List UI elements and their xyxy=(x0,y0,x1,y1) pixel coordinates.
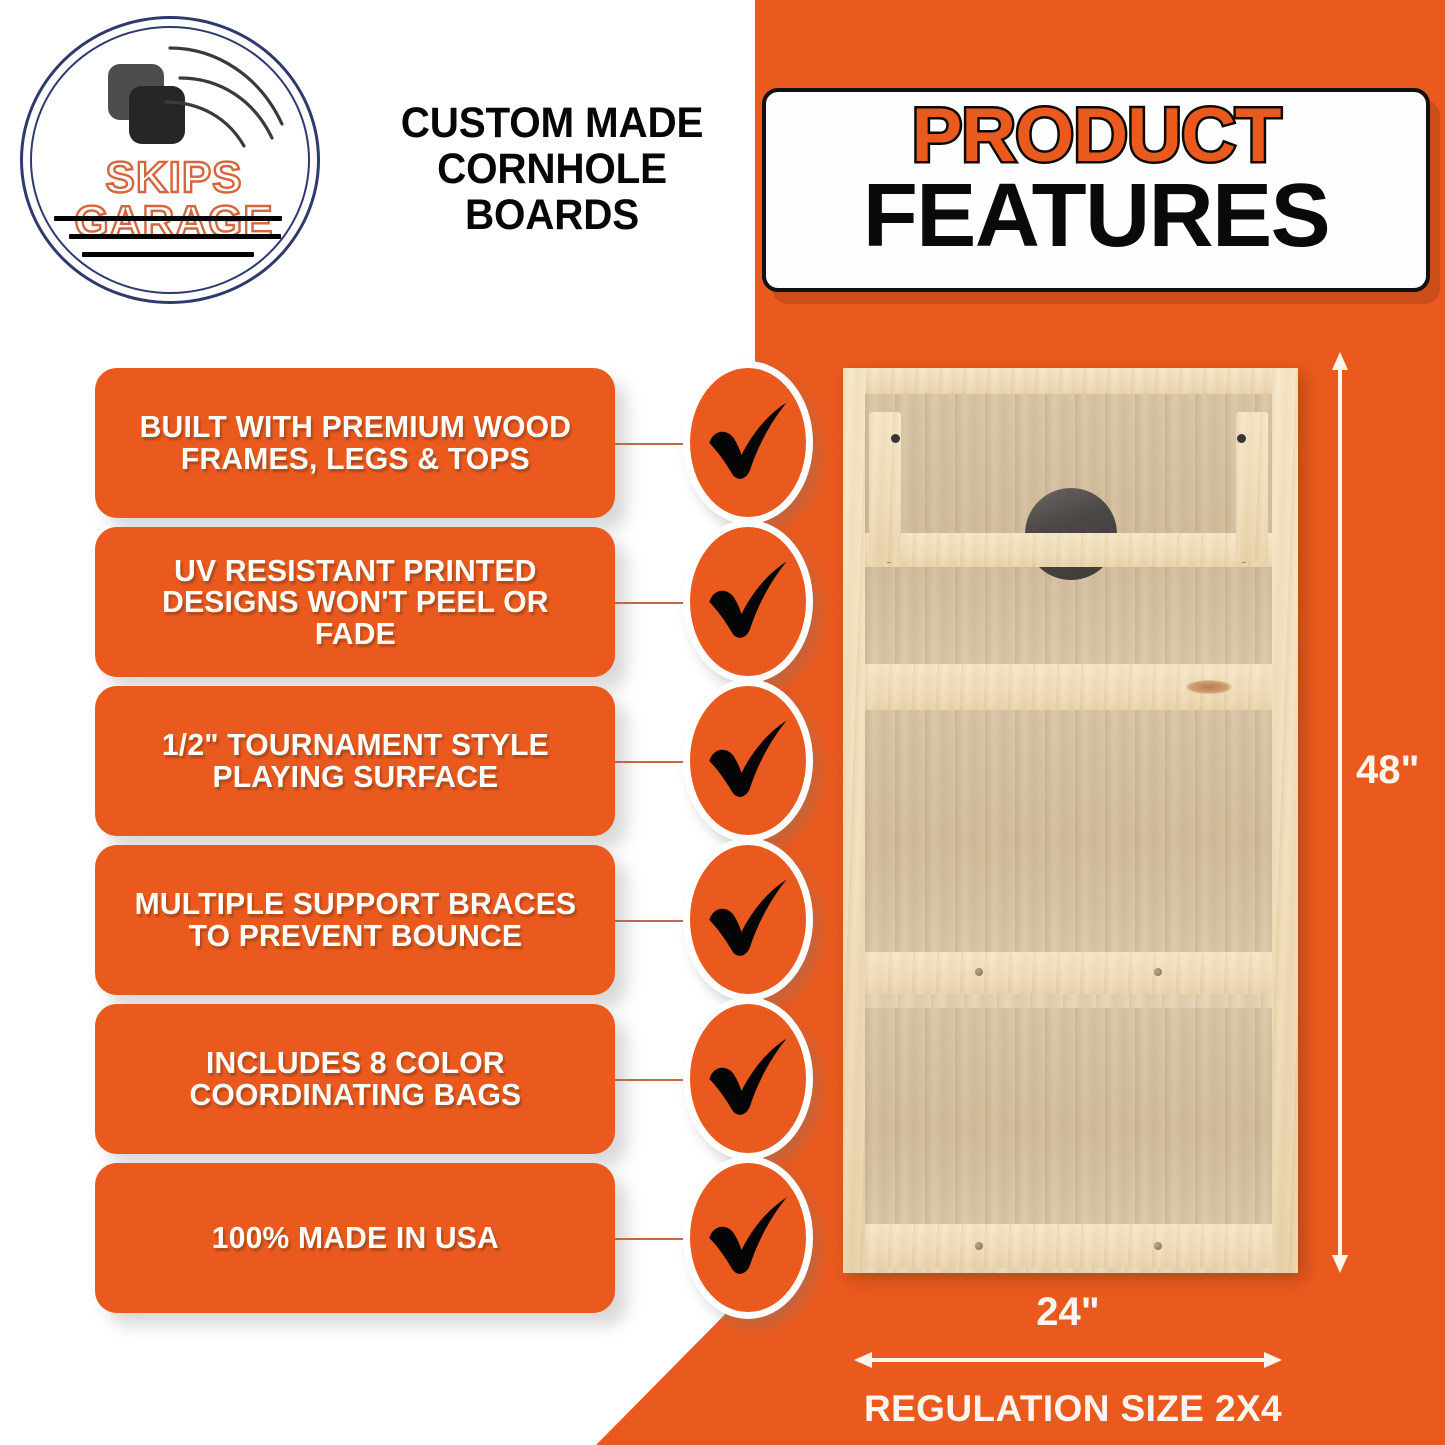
feature-label-2: UV RESISTANT PRINTED DESIGNS WON'T PEEL … xyxy=(118,555,592,650)
brand-logo: SKIPS GARAGE xyxy=(14,12,334,308)
board-support-brace-2 xyxy=(865,664,1272,710)
feature-pill-2[interactable]: UV RESISTANT PRINTED DESIGNS WON'T PEEL … xyxy=(95,527,615,677)
check-icon xyxy=(702,556,794,648)
feature-pill-5[interactable]: INCLUDES 8 COLOR COORDINATING BAGS xyxy=(95,1004,615,1154)
feature-pill-6[interactable]: 100% MADE IN USA xyxy=(95,1163,615,1313)
feature-row-1: BUILT WITH PREMIUM WOOD FRAMES, LEGS & T… xyxy=(0,368,830,518)
feature-row-2: UV RESISTANT PRINTED DESIGNS WON'T PEEL … xyxy=(0,527,830,677)
feature-pill-1[interactable]: BUILT WITH PREMIUM WOOD FRAMES, LEGS & T… xyxy=(95,368,615,518)
check-badge-3 xyxy=(683,679,813,842)
feature-label-6: 100% MADE IN USA xyxy=(118,1222,592,1254)
check-badge-1 xyxy=(683,361,813,524)
board-support-brace-4 xyxy=(865,1224,1272,1268)
height-dimension-arrow xyxy=(1320,350,1364,1275)
height-dimension-label: 48" xyxy=(1356,748,1419,793)
check-badge-4 xyxy=(683,838,813,1001)
page-title-line-1: CUSTOM MADE xyxy=(364,100,740,146)
infographic-page: SKIPS GARAGE CUSTOM MADE CORNHOLE BOARDS… xyxy=(0,0,1445,1445)
board-frame-left xyxy=(843,368,865,1273)
width-dimension-label: 24" xyxy=(852,1290,1284,1335)
page-title-line-2: CORNHOLE xyxy=(364,146,740,192)
logo-rule-1 xyxy=(54,216,282,221)
board-cavity-bottom xyxy=(865,1008,1272,1228)
board-folding-leg-right xyxy=(1236,412,1268,562)
feature-label-3: 1/2" TOURNAMENT STYLE PLAYING SURFACE xyxy=(118,729,592,792)
board-folding-leg-left xyxy=(869,412,901,562)
check-badge-6 xyxy=(683,1156,813,1319)
feature-row-5: INCLUDES 8 COLOR COORDINATING BAGS xyxy=(0,1004,830,1154)
page-title-line-3: BOARDS xyxy=(364,192,740,238)
logo-wordmark: SKIPS GARAGE xyxy=(14,156,334,244)
board-support-brace-1 xyxy=(865,533,1272,567)
check-icon xyxy=(702,1192,794,1284)
feature-pill-3[interactable]: 1/2" TOURNAMENT STYLE PLAYING SURFACE xyxy=(95,686,615,836)
board-cavity-middle xyxy=(865,698,1272,958)
check-badge-5 xyxy=(683,997,813,1160)
logo-motion-arcs-icon xyxy=(164,42,294,152)
board-top-rail xyxy=(843,368,1298,394)
product-image xyxy=(843,368,1298,1273)
check-icon xyxy=(702,1033,794,1125)
feature-label-4: MULTIPLE SUPPORT BRACES TO PREVENT BOUNC… xyxy=(118,888,592,951)
regulation-size-note: REGULATION SIZE 2X4 xyxy=(843,1388,1303,1430)
check-icon xyxy=(702,874,794,966)
feature-row-4: MULTIPLE SUPPORT BRACES TO PREVENT BOUNC… xyxy=(0,845,830,995)
feature-label-5: INCLUDES 8 COLOR COORDINATING BAGS xyxy=(118,1047,592,1110)
check-icon xyxy=(702,715,794,807)
feature-pill-4[interactable]: MULTIPLE SUPPORT BRACES TO PREVENT BOUNC… xyxy=(95,845,615,995)
banner-line-product: PRODUCT xyxy=(766,100,1426,173)
width-dimension-arrow xyxy=(852,1345,1284,1375)
check-icon xyxy=(702,397,794,489)
page-title: CUSTOM MADE CORNHOLE BOARDS xyxy=(352,100,752,238)
feature-row-6: 100% MADE IN USA xyxy=(0,1163,830,1313)
feature-row-3: 1/2" TOURNAMENT STYLE PLAYING SURFACE xyxy=(0,686,830,836)
product-features-banner: PRODUCT FEATURES xyxy=(762,88,1430,292)
check-badge-2 xyxy=(683,520,813,683)
board-support-brace-3 xyxy=(865,952,1272,994)
banner-line-features: FEATURES xyxy=(766,173,1426,259)
board-frame-right xyxy=(1272,368,1298,1273)
feature-label-1: BUILT WITH PREMIUM WOOD FRAMES, LEGS & T… xyxy=(118,411,592,474)
logo-rule-2 xyxy=(69,234,281,239)
logo-rule-3 xyxy=(82,252,254,257)
